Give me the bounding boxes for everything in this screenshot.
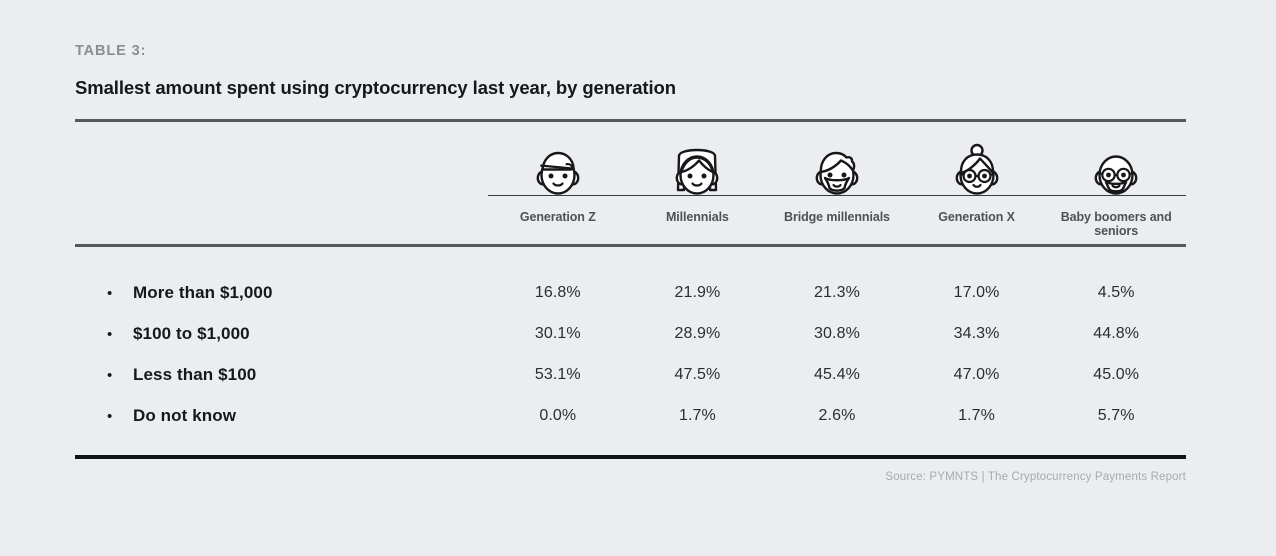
avatar-bald-glasses-icon — [1085, 142, 1147, 204]
column-header-label: Bridge millennials — [767, 210, 907, 225]
avatar-cap-icon — [527, 142, 589, 204]
row-label-cell: • Less than $100 — [75, 365, 488, 385]
row-values: 30.1% 28.9% 30.8% 34.3% 44.8% — [488, 325, 1186, 343]
column-header-baby-boomers: Baby boomers and seniors — [1046, 122, 1186, 244]
column-header-bridge-millennials: Bridge millennials — [767, 122, 907, 244]
column-header-label: Baby boomers and seniors — [1046, 210, 1186, 240]
row-label-cell: • Do not know — [75, 406, 488, 426]
table-row: • Less than $100 53.1% 47.5% 45.4% 47.0%… — [75, 355, 1186, 396]
row-label-cell: • More than $1,000 — [75, 283, 488, 303]
table-body: • More than $1,000 16.8% 21.9% 21.3% 17.… — [75, 247, 1186, 455]
row-values: 0.0% 1.7% 2.6% 1.7% 5.7% — [488, 407, 1186, 425]
cell-value: 5.7% — [1046, 407, 1186, 425]
cell-value: 30.8% — [767, 325, 907, 343]
column-header-label: Generation X — [907, 210, 1047, 225]
avatar-bun-glasses-icon — [946, 142, 1008, 204]
row-values: 53.1% 47.5% 45.4% 47.0% 45.0% — [488, 366, 1186, 384]
row-label: Less than $100 — [133, 365, 256, 385]
table-row: • $100 to $1,000 30.1% 28.9% 30.8% 34.3%… — [75, 314, 1186, 355]
column-header-label: Generation Z — [488, 210, 628, 225]
row-label-cell: • $100 to $1,000 — [75, 324, 488, 344]
bullet-icon: • — [107, 286, 133, 301]
cell-value: 47.0% — [907, 366, 1047, 384]
table-card: TABLE 3: Smallest amount spent using cry… — [75, 44, 1186, 483]
cell-value: 34.3% — [907, 325, 1047, 343]
column-header-generation-z: Generation Z — [488, 122, 628, 244]
table-eyebrow: TABLE 3: — [75, 44, 1186, 59]
cell-value: 44.8% — [1046, 325, 1186, 343]
table-row: • Do not know 0.0% 1.7% 2.6% 1.7% 5.7% — [75, 396, 1186, 437]
cell-value: 16.8% — [488, 284, 628, 302]
source-attribution: Source: PYMNTS | The Cryptocurrency Paym… — [75, 471, 1186, 483]
column-header-generation-x: Generation X — [907, 122, 1047, 244]
cell-value: 28.9% — [628, 325, 768, 343]
avatar-long-hair-icon — [666, 142, 728, 204]
avatar-beard-icon — [806, 142, 868, 204]
column-header-row: Generation Z — [488, 122, 1186, 244]
cell-value: 30.1% — [488, 325, 628, 343]
column-header-label: Millennials — [628, 210, 768, 225]
bullet-icon: • — [107, 327, 133, 342]
cell-value: 4.5% — [1046, 284, 1186, 302]
cell-value: 53.1% — [488, 366, 628, 384]
row-label: More than $1,000 — [133, 283, 273, 303]
page-title: Smallest amount spent using cryptocurren… — [75, 77, 1186, 99]
cell-value: 45.4% — [767, 366, 907, 384]
cell-value: 21.3% — [767, 284, 907, 302]
rule-bottom — [75, 455, 1186, 459]
column-header-millennials: Millennials — [628, 122, 768, 244]
bullet-icon: • — [107, 409, 133, 424]
row-label: $100 to $1,000 — [133, 324, 250, 344]
cell-value: 1.7% — [907, 407, 1047, 425]
cell-value: 45.0% — [1046, 366, 1186, 384]
cell-value: 1.7% — [628, 407, 768, 425]
cell-value: 47.5% — [628, 366, 768, 384]
table-header-band: Generation Z — [75, 122, 1186, 244]
cell-value: 17.0% — [907, 284, 1047, 302]
bullet-icon: • — [107, 368, 133, 383]
cell-value: 21.9% — [628, 284, 768, 302]
cell-value: 0.0% — [488, 407, 628, 425]
row-label: Do not know — [133, 406, 236, 426]
cell-value: 2.6% — [767, 407, 907, 425]
row-values: 16.8% 21.9% 21.3% 17.0% 4.5% — [488, 284, 1186, 302]
table-row: • More than $1,000 16.8% 21.9% 21.3% 17.… — [75, 273, 1186, 314]
